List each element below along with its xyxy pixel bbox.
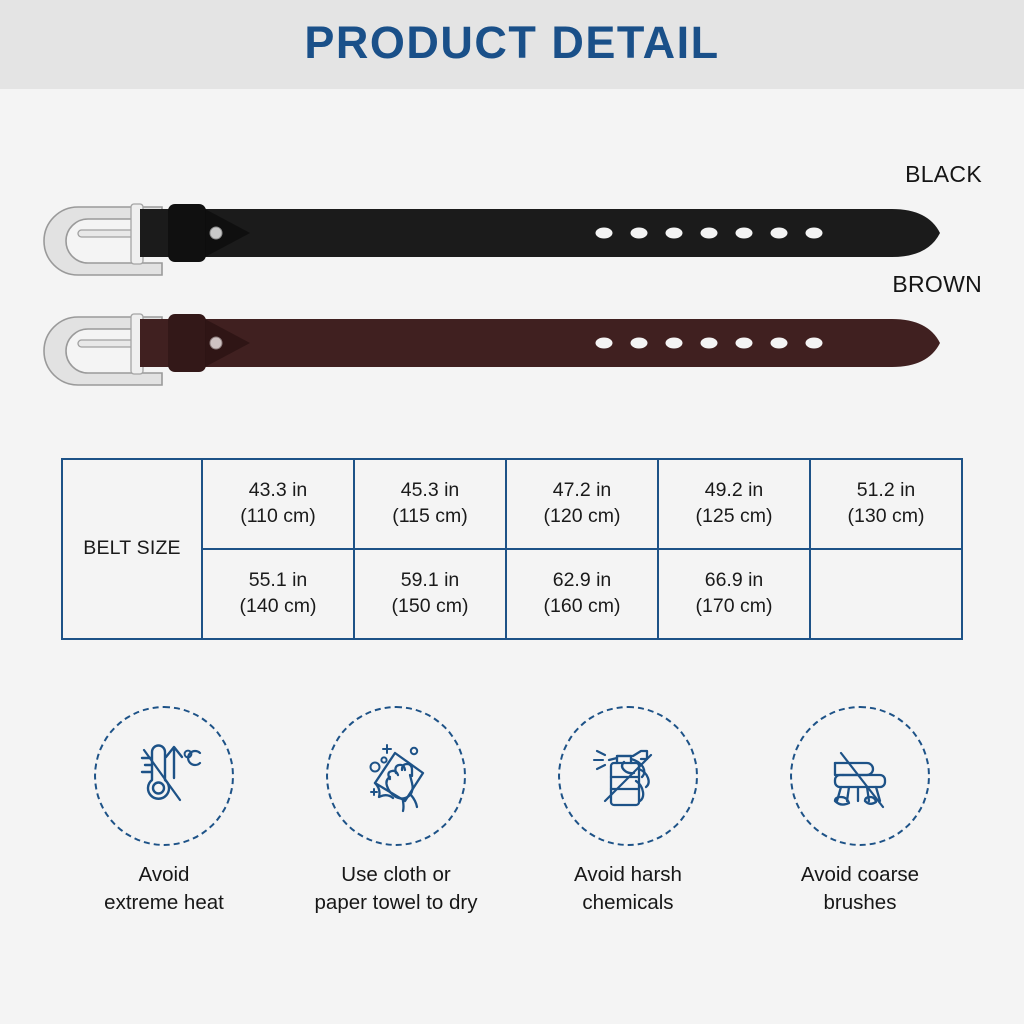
- table-cell-size: 59.1 in (150 cm): [354, 549, 506, 639]
- table-cell-size: 55.1 in (140 cm): [202, 549, 354, 639]
- table-row-label: BELT SIZE: [62, 459, 202, 639]
- size-cm: (110 cm): [203, 504, 353, 530]
- care-item: Avoid extreme heat: [48, 706, 280, 931]
- belt-illustration-brown: [0, 297, 1024, 397]
- table-cell-size: 62.9 in (160 cm): [506, 549, 658, 639]
- care-icon-circle: [326, 706, 466, 846]
- product-belt-brown: BROWN: [0, 271, 1024, 401]
- table-row: BELT SIZE 43.3 in (110 cm) 45.3 in (115 …: [62, 459, 962, 549]
- size-cm: (140 cm): [203, 594, 353, 620]
- belt-svg-brown: [0, 297, 1024, 397]
- no-extreme-heat-thermometer-icon: [118, 730, 210, 822]
- care-icon-circle: [790, 706, 930, 846]
- belt-color-label-black: BLACK: [905, 161, 982, 188]
- table-cell-size: 47.2 in (120 cm): [506, 459, 658, 549]
- table-cell-empty: [810, 549, 962, 639]
- care-item-label: Avoid coarse brushes: [801, 861, 919, 916]
- size-inches: 49.2 in: [659, 478, 809, 504]
- size-inches: 45.3 in: [355, 478, 505, 504]
- size-cm: (170 cm): [659, 594, 809, 620]
- belt-size-table: BELT SIZE 43.3 in (110 cm) 45.3 in (115 …: [61, 458, 963, 640]
- table-cell-size: 51.2 in (130 cm): [810, 459, 962, 549]
- size-inches: 47.2 in: [507, 478, 657, 504]
- size-inches: 55.1 in: [203, 568, 353, 594]
- table-cell-size: 43.3 in (110 cm): [202, 459, 354, 549]
- care-item-label: Avoid harsh chemicals: [574, 861, 682, 916]
- care-instructions: Avoid extreme heat: [48, 706, 976, 931]
- table-cell-size: 49.2 in (125 cm): [658, 459, 810, 549]
- care-item: Avoid coarse brushes: [744, 706, 976, 931]
- care-item: Use cloth or paper towel to dry: [280, 706, 512, 931]
- size-cm: (120 cm): [507, 504, 657, 530]
- care-icon-circle: [558, 706, 698, 846]
- no-coarse-brush-icon: [813, 729, 907, 823]
- page-title: PRODUCT DETAIL: [304, 20, 719, 69]
- table-cell-size: 66.9 in (170 cm): [658, 549, 810, 639]
- product-images: BLACK: [0, 89, 1024, 419]
- care-item-label: Avoid extreme heat: [104, 861, 224, 916]
- size-cm: (115 cm): [355, 504, 505, 530]
- care-icon-circle: [94, 706, 234, 846]
- size-inches: 66.9 in: [659, 568, 809, 594]
- table-cell-size: 45.3 in (115 cm): [354, 459, 506, 549]
- size-inches: 51.2 in: [811, 478, 961, 504]
- size-cm: (130 cm): [811, 504, 961, 530]
- size-inches: 59.1 in: [355, 568, 505, 594]
- size-inches: 62.9 in: [507, 568, 657, 594]
- size-cm: (160 cm): [507, 594, 657, 620]
- no-harsh-chemicals-spray-bottle-icon: [581, 729, 675, 823]
- page-header: PRODUCT DETAIL: [0, 0, 1024, 89]
- size-cm: (150 cm): [355, 594, 505, 620]
- size-cm: (125 cm): [659, 504, 809, 530]
- care-item: Avoid harsh chemicals: [512, 706, 744, 931]
- belt-color-label-brown: BROWN: [892, 271, 982, 298]
- cloth-wipe-dry-icon: [349, 729, 443, 823]
- size-inches: 43.3 in: [203, 478, 353, 504]
- care-item-label: Use cloth or paper towel to dry: [315, 861, 478, 916]
